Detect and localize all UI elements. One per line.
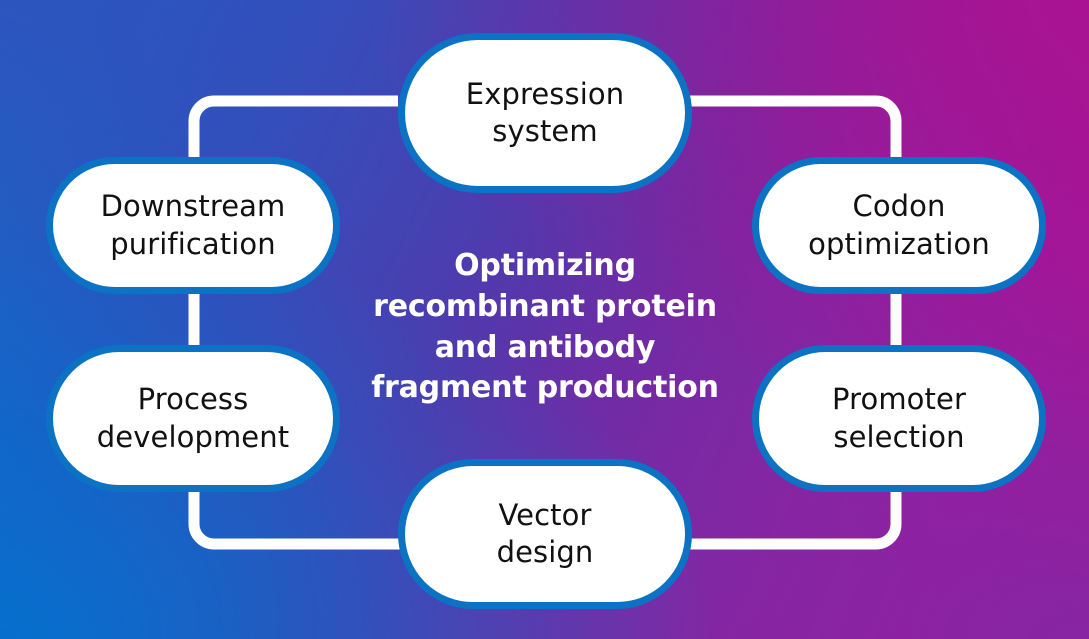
connector-promoter-to-vector [690, 486, 896, 544]
node-promoter-selection[interactable]: Promoter selection [752, 345, 1046, 492]
diagram-canvas: Expression system Codon optimization Pro… [0, 0, 1089, 639]
node-label-vector-design: Vector design [497, 497, 594, 571]
center-heading: Optimizing recombinant protein and antib… [352, 246, 738, 409]
node-label-codon-optimization: Codon optimization [808, 188, 990, 262]
node-process-development[interactable]: Process development [46, 345, 340, 492]
node-label-expression-system: Expression system [466, 76, 624, 150]
node-downstream-purification[interactable]: Downstream purification [46, 157, 340, 294]
node-label-process-development: Process development [97, 381, 289, 455]
node-vector-design[interactable]: Vector design [398, 459, 692, 609]
node-expression-system[interactable]: Expression system [398, 33, 692, 193]
node-label-downstream-purification: Downstream purification [101, 188, 286, 262]
node-label-promoter-selection: Promoter selection [832, 381, 966, 455]
node-codon-optimization[interactable]: Codon optimization [752, 157, 1046, 294]
connector-process-to-vector [194, 486, 400, 544]
